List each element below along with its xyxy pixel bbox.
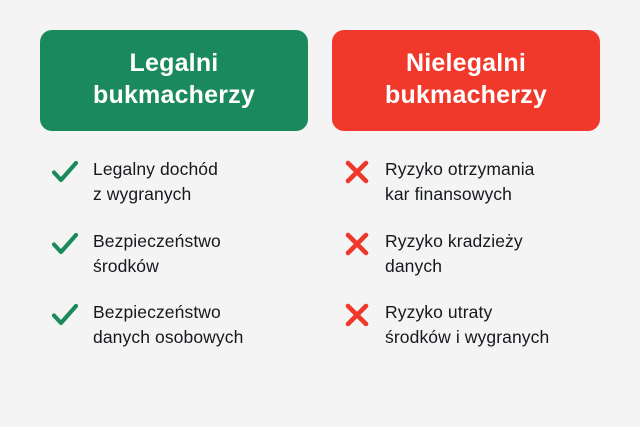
list-item-line: środków i wygranych bbox=[385, 325, 549, 350]
list-item: Ryzyko utraty środków i wygranych bbox=[342, 300, 600, 350]
list-item: Legalny dochód z wygranych bbox=[50, 157, 308, 207]
list-item-line: Legalny dochód bbox=[93, 157, 218, 182]
column-legal-header-line-2: bukmacherzy bbox=[50, 79, 298, 111]
column-legal-items: Legalny dochód z wygranych Bezpieczeństw… bbox=[40, 157, 308, 350]
list-item-text: Legalny dochód z wygranych bbox=[93, 157, 218, 207]
column-legal: Legalni bukmacherzy Legalny dochód z wyg… bbox=[40, 30, 308, 350]
list-item: Bezpieczeństwo środków bbox=[50, 229, 308, 279]
comparison-board: Legalni bukmacherzy Legalny dochód z wyg… bbox=[0, 0, 640, 427]
column-illegal-header-line-1: Nielegalni bbox=[342, 47, 590, 79]
list-item-text: Ryzyko otrzymania kar finansowych bbox=[385, 157, 535, 207]
column-legal-header: Legalni bukmacherzy bbox=[40, 30, 308, 131]
list-item-text: Ryzyko utraty środków i wygranych bbox=[385, 300, 549, 350]
list-item-line: środków bbox=[93, 254, 221, 279]
list-item-text: Ryzyko kradzieży danych bbox=[385, 229, 523, 279]
cross-icon bbox=[342, 300, 372, 330]
list-item-line: danych bbox=[385, 254, 523, 279]
column-illegal-header-line-2: bukmacherzy bbox=[342, 79, 590, 111]
list-item: Bezpieczeństwo danych osobowych bbox=[50, 300, 308, 350]
list-item-line: kar finansowych bbox=[385, 182, 535, 207]
list-item-text: Bezpieczeństwo środków bbox=[93, 229, 221, 279]
list-item-line: Ryzyko kradzieży bbox=[385, 229, 523, 254]
cross-icon bbox=[342, 157, 372, 187]
check-icon bbox=[50, 157, 80, 187]
column-illegal-header: Nielegalni bukmacherzy bbox=[332, 30, 600, 131]
list-item: Ryzyko otrzymania kar finansowych bbox=[342, 157, 600, 207]
check-icon bbox=[50, 229, 80, 259]
list-item-line: Bezpieczeństwo bbox=[93, 300, 243, 325]
column-illegal-items: Ryzyko otrzymania kar finansowych Ryzyko… bbox=[332, 157, 600, 350]
list-item-line: Ryzyko utraty bbox=[385, 300, 549, 325]
column-illegal: Nielegalni bukmacherzy Ryzyko otrzymania… bbox=[332, 30, 600, 350]
list-item: Ryzyko kradzieży danych bbox=[342, 229, 600, 279]
list-item-line: danych osobowych bbox=[93, 325, 243, 350]
column-legal-header-line-1: Legalni bbox=[50, 47, 298, 79]
list-item-line: Ryzyko otrzymania bbox=[385, 157, 535, 182]
list-item-line: Bezpieczeństwo bbox=[93, 229, 221, 254]
check-icon bbox=[50, 300, 80, 330]
comparison-columns: Legalni bukmacherzy Legalny dochód z wyg… bbox=[0, 0, 640, 350]
list-item-text: Bezpieczeństwo danych osobowych bbox=[93, 300, 243, 350]
cross-icon bbox=[342, 229, 372, 259]
list-item-line: z wygranych bbox=[93, 182, 218, 207]
